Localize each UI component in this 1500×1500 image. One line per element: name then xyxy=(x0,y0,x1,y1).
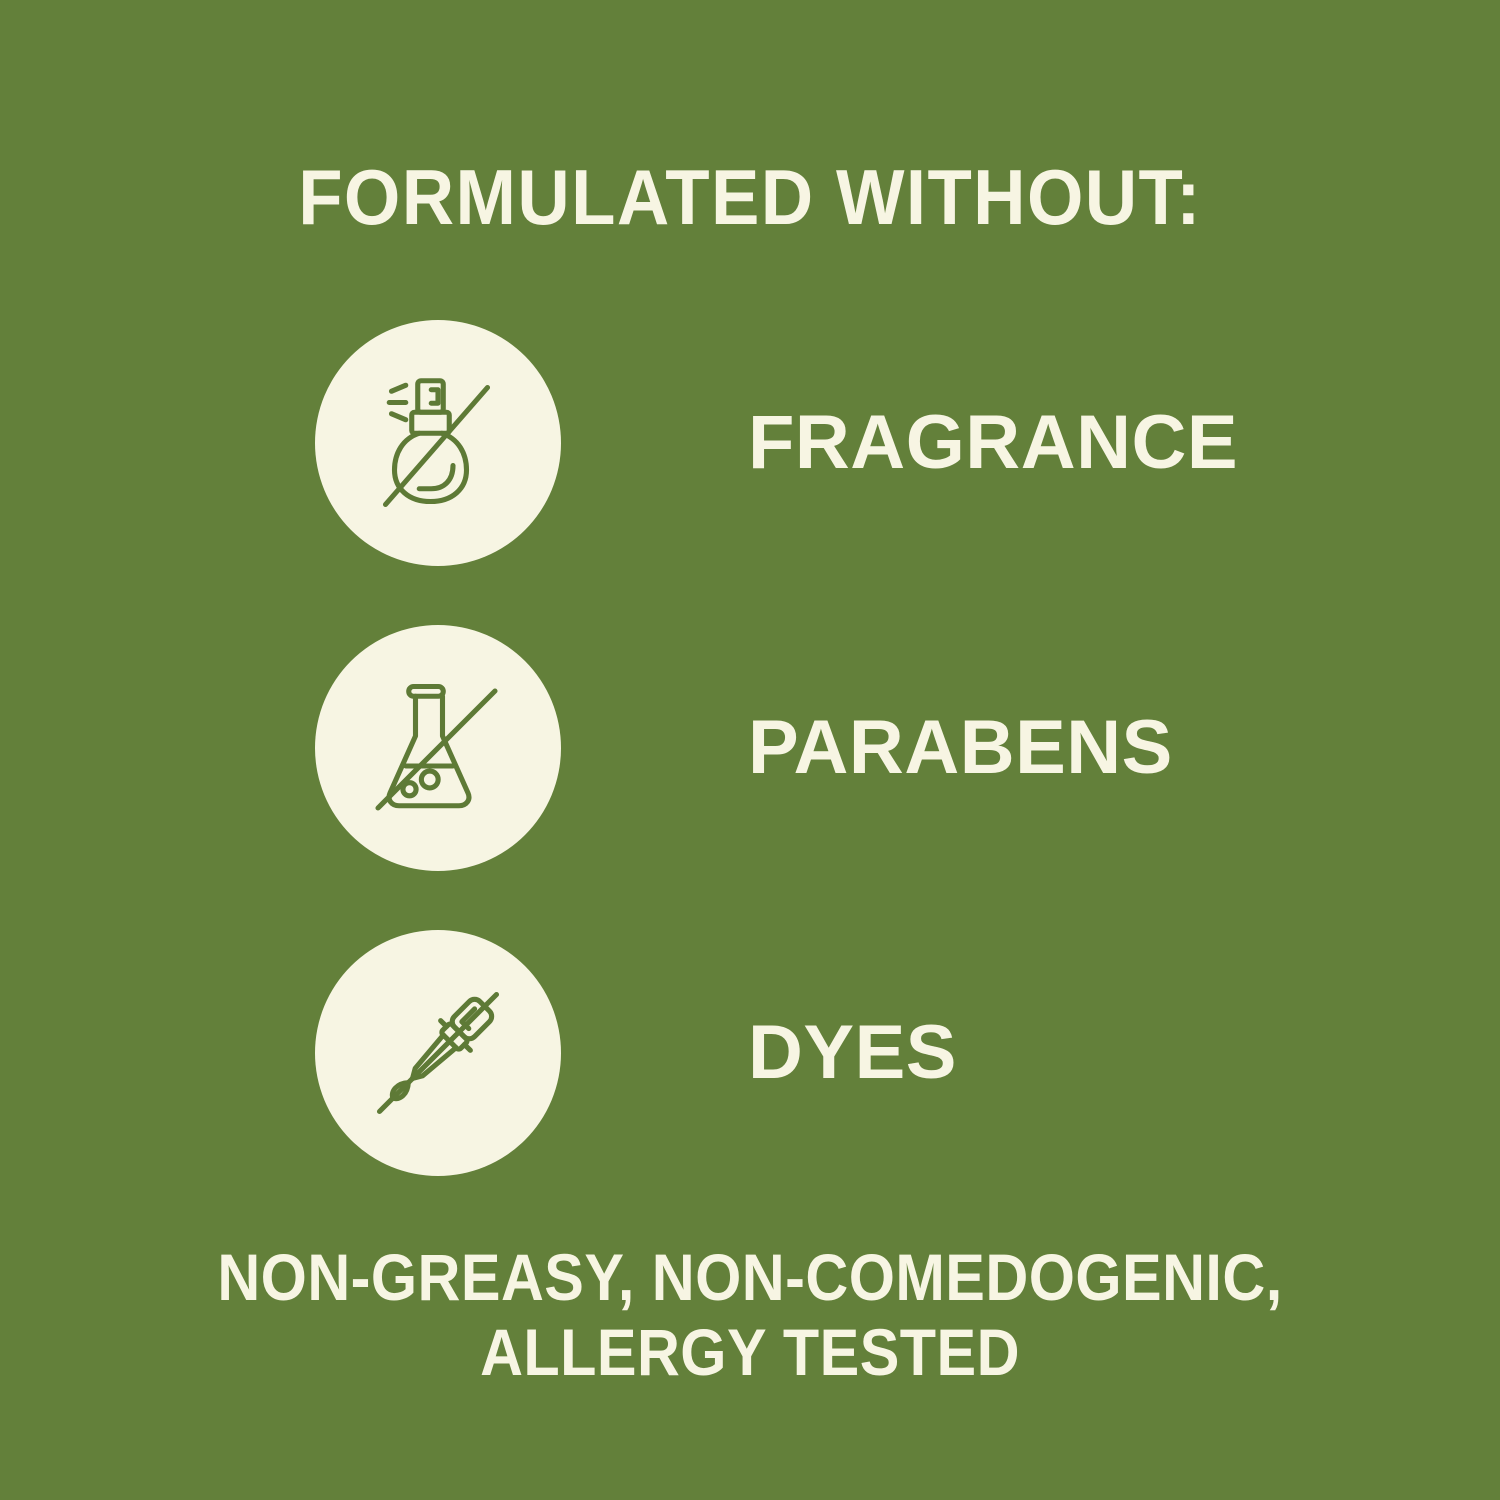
no-dye-dropper-icon xyxy=(315,930,561,1176)
footer-claim: NON-GREASY, NON-COMEDOGENIC, ALLERGY TES… xyxy=(0,1240,1500,1389)
formulated-without-panel: FORMULATED WITHOUT: xyxy=(0,0,1500,1500)
no-fragrance-spray-bottle-icon xyxy=(315,320,561,566)
claim-label: PARABENS xyxy=(748,605,1173,891)
list-item: FRAGRANCE xyxy=(0,300,1500,605)
claims-list: FRAGRANCE PARABENS xyxy=(0,300,1500,1215)
footer-claim-line-1: NON-GREASY, NON-COMEDOGENIC, xyxy=(75,1240,1425,1315)
page-title: FORMULATED WITHOUT: xyxy=(53,158,1448,236)
no-chemistry-flask-icon xyxy=(315,625,561,871)
claim-label: DYES xyxy=(748,910,957,1196)
claim-label: FRAGRANCE xyxy=(748,300,1238,586)
list-item: DYES xyxy=(0,910,1500,1215)
list-item: PARABENS xyxy=(0,605,1500,910)
footer-claim-line-2: ALLERGY TESTED xyxy=(75,1315,1425,1390)
